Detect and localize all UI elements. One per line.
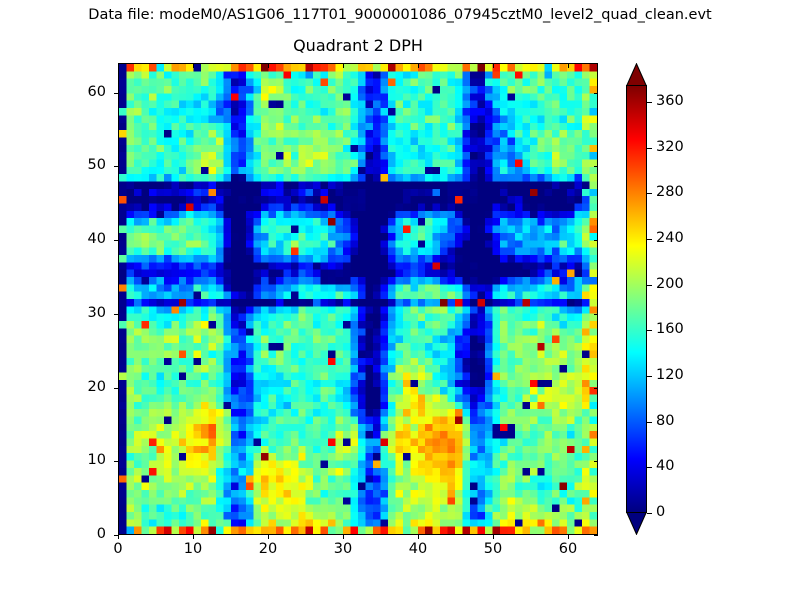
colorbar-tick-label: 160 xyxy=(656,321,684,338)
x-axis-tick xyxy=(418,535,419,539)
x-axis-tick-label: 0 xyxy=(88,541,148,558)
detector-heatmap[interactable] xyxy=(119,64,597,534)
x-axis-tick-label: 60 xyxy=(538,541,598,558)
y-axis-tick-label: 20 xyxy=(62,379,106,396)
colorbar-tick-label: 200 xyxy=(656,276,684,293)
x-axis-tick xyxy=(118,535,119,539)
colorbar-tick-label: 0 xyxy=(656,504,665,521)
x-axis-tick-top xyxy=(418,64,419,68)
y-axis-tick xyxy=(114,535,118,536)
x-axis-tick-top xyxy=(118,64,119,68)
colorbar-under-range-arrow-icon xyxy=(626,512,647,535)
y-axis-tick-label: 0 xyxy=(62,526,106,543)
colorbar-tick xyxy=(647,285,652,286)
x-axis-tick xyxy=(193,535,194,539)
colorbar-tick xyxy=(647,330,652,331)
x-axis-tick-top xyxy=(343,64,344,68)
x-axis-tick xyxy=(493,535,494,539)
x-axis-tick-label: 30 xyxy=(313,541,373,558)
y-axis-tick-right xyxy=(594,93,598,94)
y-axis-tick-right xyxy=(594,240,598,241)
colorbar-tick xyxy=(647,148,652,149)
x-axis-tick-top xyxy=(493,64,494,68)
colorbar-tick xyxy=(647,422,652,423)
x-axis-tick-label: 10 xyxy=(163,541,223,558)
colorbar-tick xyxy=(647,239,652,240)
y-axis-tick-label: 60 xyxy=(62,84,106,101)
colorbar-tick xyxy=(647,467,652,468)
colorbar[interactable] xyxy=(626,63,647,535)
colorbar-tick xyxy=(647,376,652,377)
y-axis-tick-label: 50 xyxy=(62,157,106,174)
y-axis-tick-right xyxy=(594,535,598,536)
y-axis-tick xyxy=(114,314,118,315)
x-axis-tick xyxy=(343,535,344,539)
colorbar-tick-label: 280 xyxy=(656,184,684,201)
colorbar-over-range-arrow-icon xyxy=(626,63,647,86)
y-axis-tick-label: 40 xyxy=(62,231,106,248)
x-axis-tick-label: 50 xyxy=(463,541,523,558)
data-file-title: Data file: modeM0/AS1G06_117T01_90000010… xyxy=(0,6,800,24)
y-axis-tick-label: 30 xyxy=(62,305,106,322)
x-axis-tick-label: 20 xyxy=(238,541,298,558)
figure-canvas: Data file: modeM0/AS1G06_117T01_90000010… xyxy=(0,0,800,600)
colorbar-tick xyxy=(647,513,652,514)
colorbar-tick-label: 240 xyxy=(656,230,684,247)
colorbar-tick xyxy=(647,102,652,103)
page-title: Quadrant 2 DPH xyxy=(118,36,598,56)
y-axis-tick-right xyxy=(594,461,598,462)
colorbar-gradient xyxy=(626,85,647,513)
x-axis-tick xyxy=(268,535,269,539)
y-axis-tick xyxy=(114,93,118,94)
x-axis-tick xyxy=(568,535,569,539)
colorbar-tick-label: 40 xyxy=(656,458,674,475)
x-axis-tick-top xyxy=(268,64,269,68)
x-axis-tick-label: 40 xyxy=(388,541,448,558)
y-axis-tick-right xyxy=(594,314,598,315)
x-axis-tick-top xyxy=(193,64,194,68)
x-axis-tick-top xyxy=(568,64,569,68)
y-axis-tick-label: 10 xyxy=(62,452,106,469)
y-axis-tick-right xyxy=(594,388,598,389)
y-axis-tick-right xyxy=(594,166,598,167)
colorbar-tick xyxy=(647,193,652,194)
colorbar-tick-label: 360 xyxy=(656,93,684,110)
colorbar-tick-label: 120 xyxy=(656,367,684,384)
colorbar-tick-label: 80 xyxy=(656,413,674,430)
y-axis-tick xyxy=(114,461,118,462)
y-axis-tick xyxy=(114,166,118,167)
y-axis-tick xyxy=(114,240,118,241)
heatmap-axes[interactable] xyxy=(118,63,598,535)
y-axis-tick xyxy=(114,388,118,389)
colorbar-tick-label: 320 xyxy=(656,139,684,156)
